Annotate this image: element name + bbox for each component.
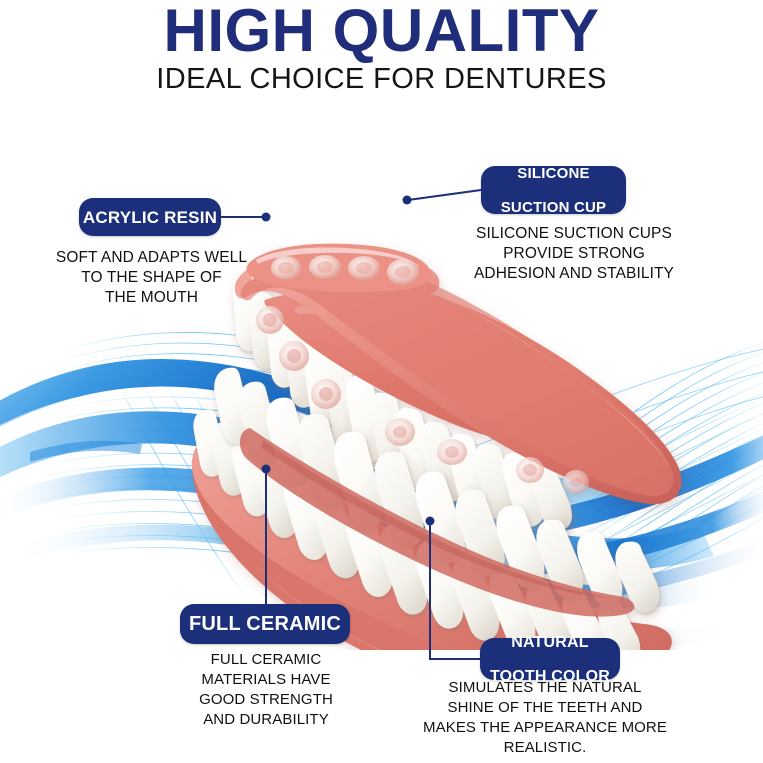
desc-line: ADHESION AND STABILITY	[464, 264, 684, 284]
header-block: HIGH QUALITY IDEAL CHOICE FOR DENTURES	[0, 0, 763, 96]
callout-description-natural-tooth-color: SIMULATES THE NATURAL SHINE OF THE TEETH…	[420, 678, 670, 758]
callout-description-acrylic-resin: SOFT AND ADAPTS WELL TO THE SHAPE OF THE…	[44, 248, 259, 308]
callout-badge-label-natural-tooth-color: NATURAL TOOTH COLOR	[480, 634, 620, 685]
page-subtitle: IDEAL CHOICE FOR DENTURES	[0, 62, 763, 96]
callout-badge-label-full-ceramic: FULL CERAMIC	[180, 613, 350, 635]
callout-badge-acrylic-resin[interactable]: ACRYLIC RESIN	[79, 198, 221, 236]
badge-line-2: SUCTION CUP	[481, 199, 626, 216]
desc-line: MAKES THE APPEARANCE MORE	[420, 718, 670, 738]
denture-illustration	[0, 110, 763, 650]
badge-line-1: SILICONE	[481, 165, 626, 182]
callout-badge-natural-tooth-color[interactable]: NATURAL TOOTH COLOR	[480, 638, 620, 680]
desc-line: TO THE SHAPE OF	[44, 268, 259, 288]
callout-badge-full-ceramic[interactable]: FULL CERAMIC	[180, 604, 350, 644]
desc-line: SHINE OF THE TEETH AND	[420, 698, 670, 718]
desc-line: MATERIALS HAVE	[176, 670, 356, 690]
badge-line-1: NATURAL	[480, 634, 620, 651]
desc-line: SOFT AND ADAPTS WELL	[44, 248, 259, 268]
desc-line: SILICONE SUCTION CUPS	[464, 224, 684, 244]
desc-line: FULL CERAMIC	[176, 650, 356, 670]
callout-description-full-ceramic: FULL CERAMIC MATERIALS HAVE GOOD STRENGT…	[176, 650, 356, 730]
desc-line: SIMULATES THE NATURAL	[420, 678, 670, 698]
desc-line: AND DURABILITY	[176, 710, 356, 730]
callout-badge-label-silicone-suction-cup: SILICONE SUCTION CUP	[481, 165, 626, 216]
page-title: HIGH QUALITY	[0, 0, 763, 62]
callout-badge-silicone-suction-cup[interactable]: SILICONE SUCTION CUP	[481, 166, 626, 214]
desc-line: REALISTIC.	[420, 738, 670, 758]
desc-line: GOOD STRENGTH	[176, 690, 356, 710]
callout-badge-label-acrylic-resin: ACRYLIC RESIN	[79, 208, 221, 227]
desc-line: PROVIDE STRONG	[464, 244, 684, 264]
callout-description-silicone-suction-cup: SILICONE SUCTION CUPS PROVIDE STRONG ADH…	[464, 224, 684, 284]
denture-product-infographic: HIGH QUALITY IDEAL CHOICE FOR DENTURES A…	[0, 0, 763, 763]
desc-line: THE MOUTH	[44, 288, 259, 308]
